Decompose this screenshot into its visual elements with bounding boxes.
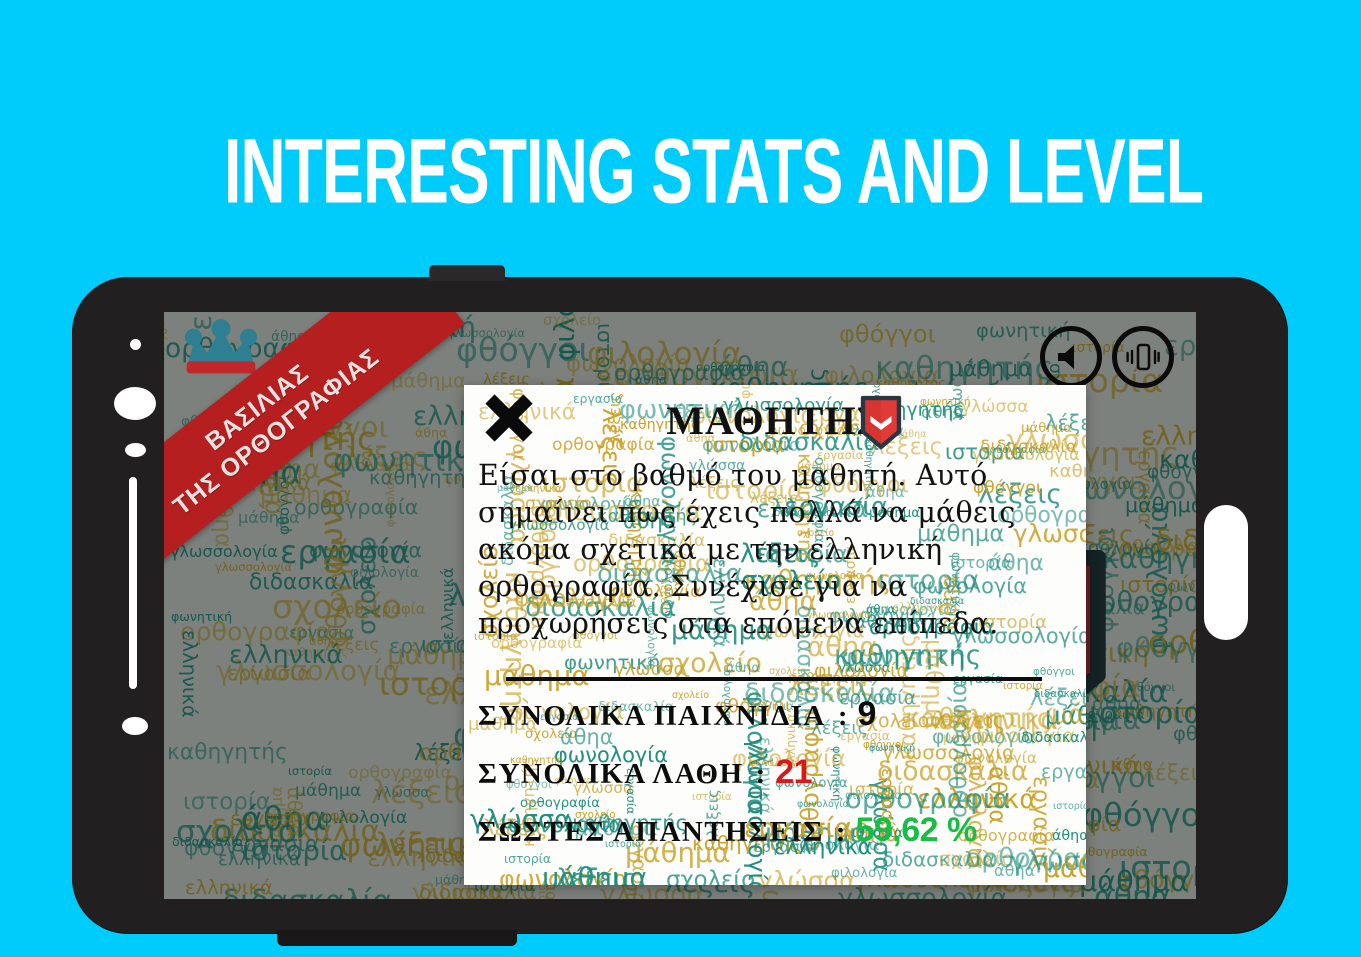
stat-label: ΣΩΣΤΕΣ ΑΠΑΝΤΗΣΕΙΣ [478,816,824,849]
stat-separator: : [756,758,766,791]
home-button[interactable] [1204,505,1248,640]
stat-label: ΣΥΝΟΛΙΚΑ ΛΑΘΗ [478,758,744,791]
rank-shield-badge-icon [858,395,904,451]
sensor-dot-icon [125,443,146,457]
screen-toolbar [1040,326,1174,388]
device-screen: γλώσσαφθόγγοιγλωσσολογίαελληνικάιστορίαο… [164,312,1196,899]
front-camera-icon [114,387,156,420]
stat-value: 59,62 % [855,811,976,850]
speaker-strip-icon [129,477,137,689]
stat-row: ΣΩΣΤΕΣ ΑΠΑΝΤΗΣΕΙΣ:59,62 % [464,811,1086,869]
stat-value: 9 [858,695,876,734]
dialog-title: ΜΑΘΗΤΗΣ [464,397,1086,444]
level-description-dialog: καθηγητήςγλώσσακαθηγητήςμάθημαφωνολογίαδ… [464,385,1086,885]
speaker-icon [1056,344,1086,370]
stat-value: 21 [775,753,812,792]
top-notch [429,265,505,281]
divider [506,677,1042,681]
poster-canvas: INTERESTING STATS AND LEVEL DESCRIPTIONS… [0,0,1361,957]
vibrate-icon [1126,343,1160,371]
stat-separator: : [838,700,848,733]
stat-label: ΣΥΝΟΛΙΚΑ ΠΑΙΧΝΙΔΙΑ [478,700,826,733]
sound-toggle-button[interactable] [1040,326,1102,388]
dialog-body-text: Είσαι στο βαθμό του μαθητή. Αυτό σημαίνε… [478,457,1074,642]
stat-separator: : [836,816,846,849]
tablet-frame: γλώσσαφθόγγοιγλωσσολογίαελληνικάιστορίαο… [72,277,1288,934]
stats-list: ΣΥΝΟΛΙΚΑ ΠΑΙΧΝΙΔΙΑ:9ΣΥΝΟΛΙΚΑ ΛΑΘΗ:21ΣΩΣΤ… [464,695,1086,869]
stat-row: ΣΥΝΟΛΙΚΑ ΠΑΙΧΝΙΔΙΑ:9 [464,695,1086,753]
sensor-dot-icon [122,717,148,735]
headline-line-1: INTERESTING STATS AND LEVEL [224,119,1203,223]
stat-row: ΣΥΝΟΛΙΚΑ ΛΑΘΗ:21 [464,753,1086,811]
vibrate-toggle-button[interactable] [1112,326,1174,388]
sensor-dot-icon [130,339,141,350]
bottom-notch [277,930,517,946]
